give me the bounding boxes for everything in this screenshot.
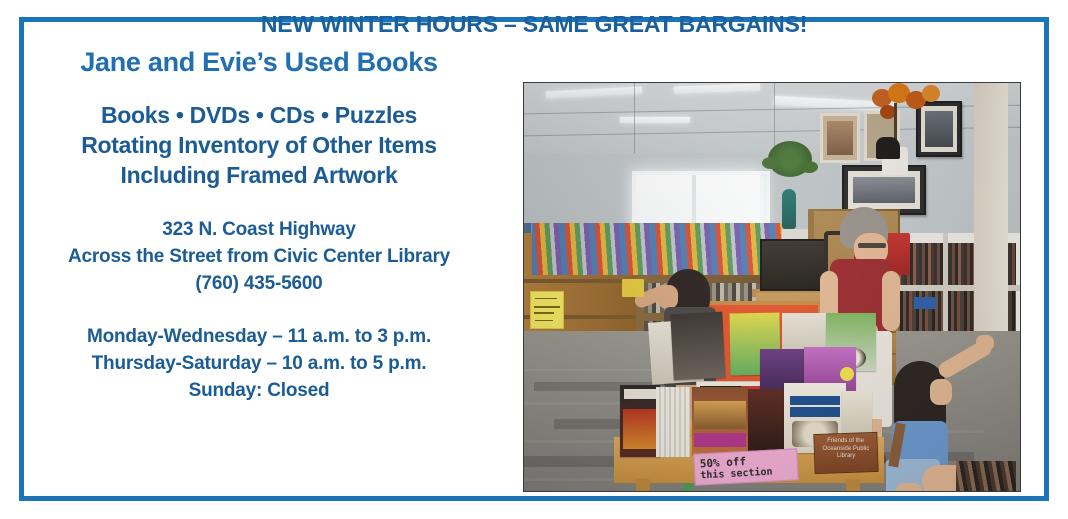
- offerings-line-1: Books • DVDs • CDs • Puzzles: [14, 100, 504, 130]
- autumn-flower-4: [922, 85, 940, 102]
- blue-shelf-label: [914, 297, 936, 309]
- sign-text-line-3: [534, 312, 554, 314]
- hours-line-1: Monday-Wednesday – 11 a.m. to 3 p.m.: [14, 324, 504, 351]
- sign-text-line-1: [535, 298, 557, 299]
- sign-text-line-2: [534, 306, 560, 308]
- magazine-stack: [656, 387, 690, 457]
- person-red-top-glasses: [858, 243, 886, 248]
- display-table-leg-left: [636, 479, 650, 491]
- headline: NEW WINTER HOURS – SAME GREAT BARGAINS!: [0, 11, 1068, 38]
- black-cat-figure: [876, 137, 900, 159]
- cookbook-grill-photo: [623, 409, 657, 449]
- cake-doctor-title-2: [790, 407, 840, 417]
- dark-frame-stack: [760, 239, 828, 291]
- framed-art-right-1: [916, 101, 962, 157]
- wreath-leaf-1: [762, 157, 780, 169]
- ceiling-grid-3: [634, 83, 635, 153]
- hours-line-3: Sunday: Closed: [14, 378, 504, 405]
- cake-doctor-title-1: [790, 396, 840, 405]
- person-red-top-arm-right: [882, 271, 900, 331]
- person-crouching-shin: [896, 483, 922, 492]
- text-column: Jane and Evie’s Used Books Books • DVDs …: [14, 48, 504, 405]
- phone-number: (760) 435-5600: [14, 271, 504, 298]
- cookbook-upper-2: [670, 312, 725, 381]
- plaque-line-1: Friends of the: [815, 438, 877, 446]
- storefront-photo: SUM ER FU: [523, 82, 1021, 492]
- frame-picture-2: [925, 111, 953, 147]
- yellow-dot-books-sign: [530, 291, 564, 329]
- plaque-line-2: Oceanside Public: [815, 446, 877, 454]
- address-block: 323 N. Coast Highway Across the Street f…: [14, 217, 504, 298]
- cookbook-grill-title: [624, 389, 656, 399]
- sign-text-line-4: [535, 320, 553, 321]
- childrens-books-row: [532, 223, 782, 275]
- cookbook-mid-2-badge: [840, 367, 854, 381]
- poster-palm-leaf-3: [680, 487, 694, 492]
- hours-line-2: Thursday-Saturday – 10 a.m. to 5 p.m.: [14, 351, 504, 378]
- discount-sign: 50% off this section: [693, 448, 799, 485]
- person-crouching-hand: [976, 335, 994, 351]
- library-friends-plaque: Friends of the Oceanside Public Library: [813, 432, 878, 474]
- wreath-leaf-2: [800, 161, 818, 173]
- offerings-line-3: Including Framed Artwork: [14, 160, 504, 190]
- hours-block: Monday-Wednesday – 11 a.m. to 3 p.m. Thu…: [14, 324, 504, 405]
- flyer: NEW WINTER HOURS – SAME GREAT BARGAINS! …: [0, 0, 1068, 519]
- address-street: 323 N. Coast Highway: [14, 217, 504, 244]
- page-title: Jane and Evie’s Used Books: [14, 48, 504, 78]
- offerings-line-2: Rotating Inventory of Other Items: [14, 130, 504, 160]
- cookbook-lower-3: [748, 389, 784, 453]
- person-crouching-face: [930, 379, 952, 405]
- address-landmark: Across the Street from Civic Center Libr…: [14, 244, 504, 271]
- ceiling-light-4: [620, 117, 690, 123]
- teal-vase: [782, 189, 796, 229]
- offerings-block: Books • DVDs • CDs • Puzzles Rotating In…: [14, 100, 504, 191]
- framed-art-right-2: [820, 113, 860, 163]
- plaque-line-3: Library: [815, 453, 877, 461]
- person-shelving-book: [622, 279, 644, 297]
- frame-picture-3: [827, 121, 853, 155]
- photo-scene: SUM ER FU: [524, 83, 1020, 491]
- cookbook-lower-2-photo: [694, 401, 746, 429]
- ceiling-grid-4: [774, 83, 775, 153]
- display-table-leg-right: [846, 479, 860, 491]
- frame-picture: [853, 177, 915, 203]
- cookbook-lower-2-band: [694, 433, 746, 447]
- floor-book-stack: [956, 461, 1016, 491]
